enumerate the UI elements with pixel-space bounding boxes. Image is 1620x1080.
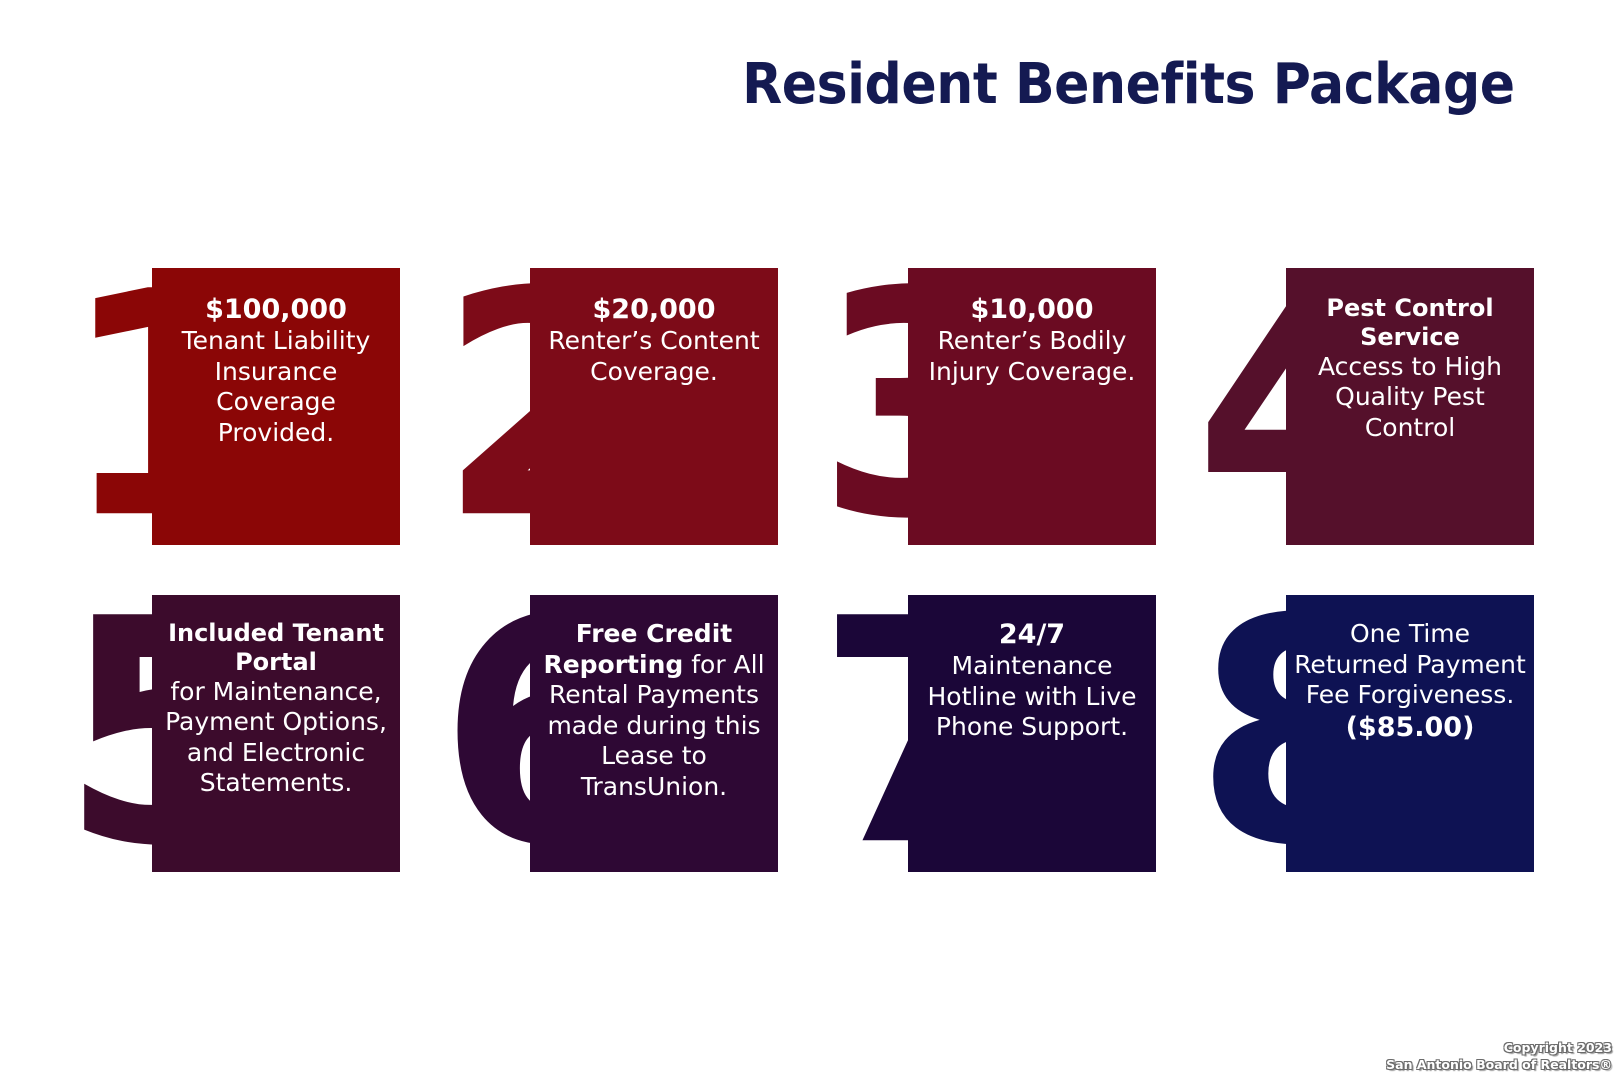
benefit-text-5: Included Tenant Portalfor Maintenance, P… [160, 619, 392, 799]
benefit-heading-7: 24/7 [916, 619, 1148, 651]
benefit-heading-2: $20,000 [538, 294, 770, 326]
benefit-body-3: Renter’s Bodily Injury Coverage. [929, 326, 1136, 386]
benefit-text-7: 24/7Maintenance Hotline with Live Phone … [916, 619, 1148, 743]
benefit-panel-5: Included Tenant Portalfor Maintenance, P… [152, 595, 400, 872]
benefit-body-2: Renter’s Content Coverage. [548, 326, 759, 386]
benefit-card-1: 1 $100,000Tenant Liability Insurance Cov… [152, 268, 400, 545]
benefit-body-1: Tenant Liability Insurance Coverage Prov… [182, 326, 371, 447]
benefit-heading-3: $10,000 [916, 294, 1148, 326]
benefit-panel-1: $100,000Tenant Liability Insurance Cover… [152, 268, 400, 545]
benefit-panel-8: One Time Returned Payment Fee Forgivenes… [1286, 595, 1534, 872]
benefit-card-3: 3 $10,000Renter’s Bodily Injury Coverage… [908, 268, 1156, 545]
benefit-heading-4: Pest Control Service [1294, 294, 1526, 352]
benefit-card-5: 5 Included Tenant Portalfor Maintenance,… [152, 595, 400, 872]
benefit-card-4: 4 Pest Control ServiceAccess to High Qua… [1286, 268, 1534, 545]
benefit-panel-4: Pest Control ServiceAccess to High Quali… [1286, 268, 1534, 545]
benefit-panel-3: $10,000Renter’s Bodily Injury Coverage. [908, 268, 1156, 545]
benefit-text-3: $10,000Renter’s Bodily Injury Coverage. [916, 294, 1148, 387]
benefit-text-1: $100,000Tenant Liability Insurance Cover… [160, 294, 392, 448]
benefits-grid: 1 $100,000Tenant Liability Insurance Cov… [0, 0, 1620, 1080]
benefit-card-2: 2 $20,000Renter’s Content Coverage. [530, 268, 778, 545]
benefit-heading-5: Included Tenant Portal [160, 619, 392, 677]
benefit-amount-8: ($85.00) [1294, 711, 1526, 745]
benefit-panel-2: $20,000Renter’s Content Coverage. [530, 268, 778, 545]
copyright-line-1: Copyright 2023 [1386, 1040, 1612, 1057]
benefit-body-5: for Maintenance, Payment Options, and El… [165, 677, 387, 798]
copyright-line-2: San Antonio Board of Realtors® [1386, 1057, 1612, 1074]
benefit-text-8: One Time Returned Payment Fee Forgivenes… [1294, 619, 1526, 744]
benefit-body-4: Access to High Quality Pest Control [1318, 352, 1502, 442]
benefit-card-6: 6 Free Credit Reporting for All Rental P… [530, 595, 778, 872]
benefit-panel-6: Free Credit Reporting for All Rental Pay… [530, 595, 778, 872]
benefit-card-7: 7 24/7Maintenance Hotline with Live Phon… [908, 595, 1156, 872]
benefit-text-2: $20,000Renter’s Content Coverage. [538, 294, 770, 387]
footer-copyright: Copyright 2023 San Antonio Board of Real… [1386, 1040, 1612, 1074]
benefit-body-8: One Time Returned Payment Fee Forgivenes… [1294, 619, 1526, 709]
benefit-panel-7: 24/7Maintenance Hotline with Live Phone … [908, 595, 1156, 872]
benefit-text-6: Free Credit Reporting for All Rental Pay… [538, 619, 770, 802]
benefit-text-4: Pest Control ServiceAccess to High Quali… [1294, 294, 1526, 443]
benefit-body-7: Maintenance Hotline with Live Phone Supp… [928, 651, 1137, 741]
benefit-heading-1: $100,000 [160, 294, 392, 326]
benefit-card-8: 8 One Time Returned Payment Fee Forgiven… [1286, 595, 1534, 872]
